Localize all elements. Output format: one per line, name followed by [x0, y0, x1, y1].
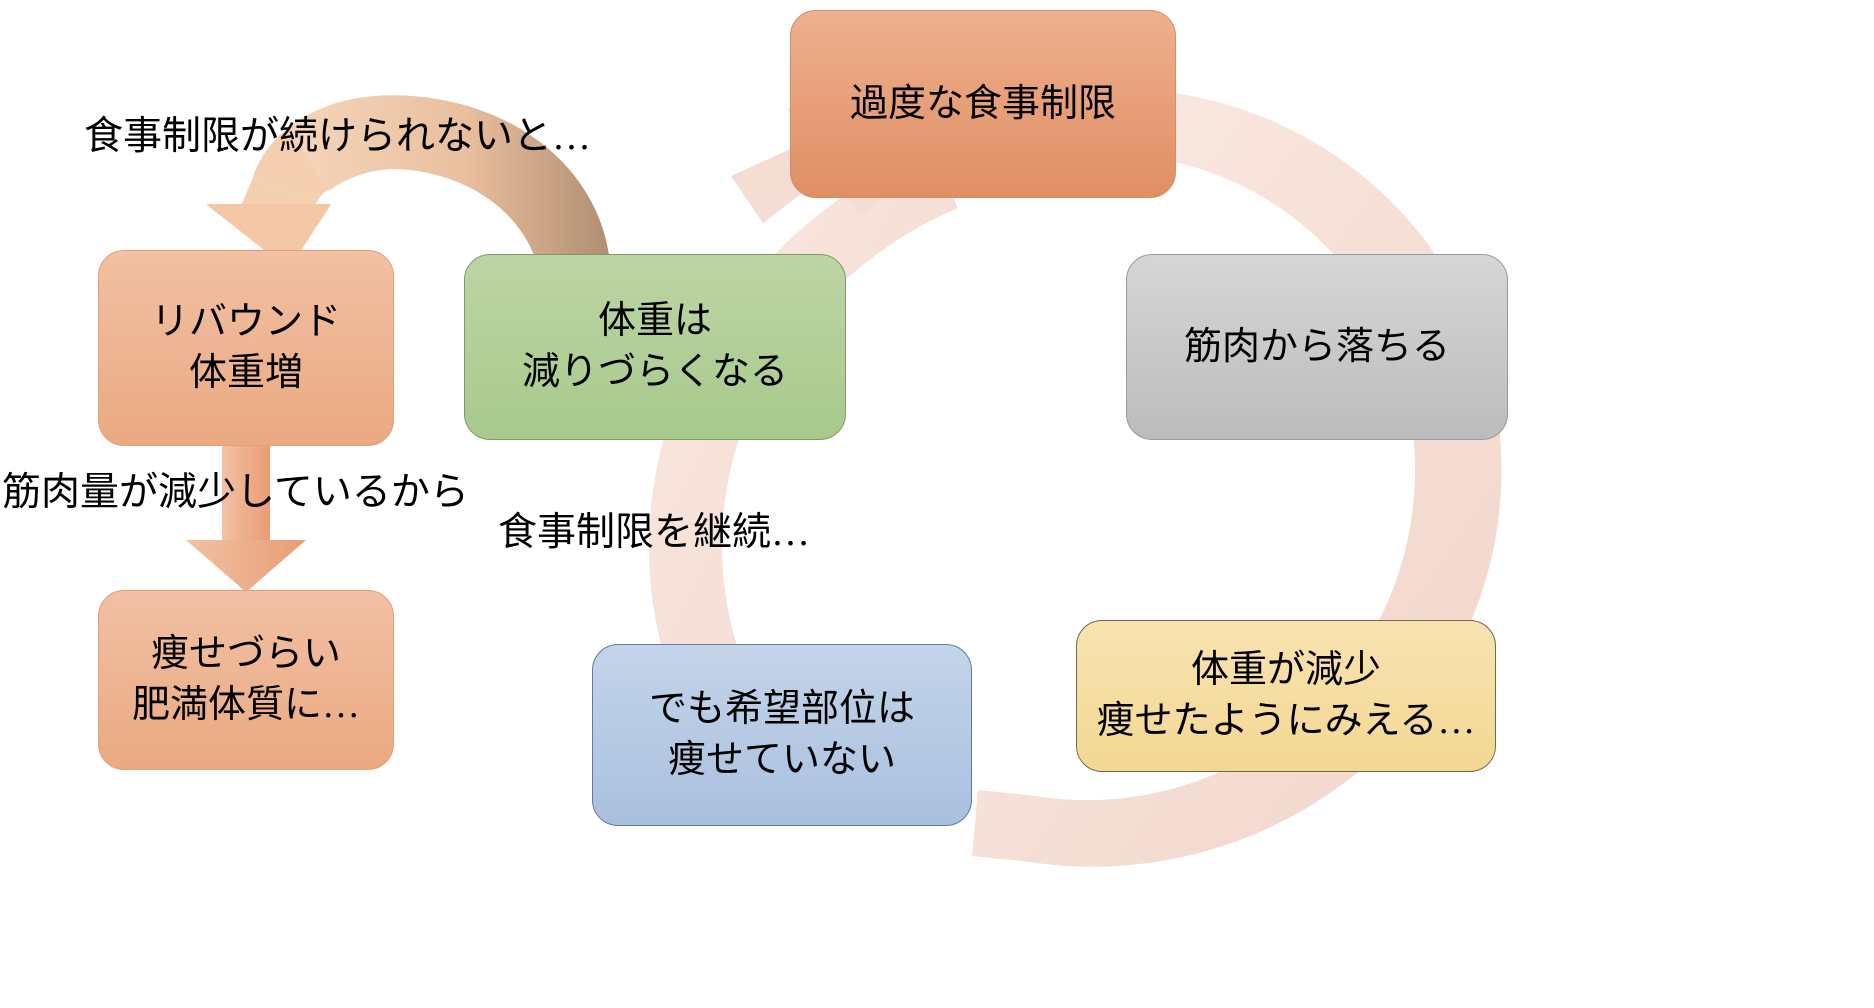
- diagram-canvas: 過度な食事制限 筋肉から落ちる 体重が減少 痩せたようにみえる… でも希望部位は…: [0, 0, 1874, 1008]
- node-weight-decreased[interactable]: 体重が減少 痩せたようにみえる…: [1076, 620, 1496, 772]
- node-muscle-loss-first[interactable]: 筋肉から落ちる: [1126, 254, 1508, 440]
- node-excessive-diet-restriction[interactable]: 過度な食事制限: [790, 10, 1176, 198]
- caption-muscle-mass-decreased: 筋肉量が減少しているから: [2, 472, 469, 515]
- node-weight-hard-to-lose[interactable]: 体重は 減りづらくなる: [464, 254, 846, 440]
- rebound-to-obesity-arrow: [186, 446, 306, 592]
- caption-continue-restriction: 食事制限を継続…: [498, 512, 810, 555]
- node-target-area-not-slimmed[interactable]: でも希望部位は 痩せていない: [592, 644, 972, 826]
- caption-cannot-continue-restriction: 食事制限が続けられないと…: [84, 116, 591, 159]
- node-rebound-weight-gain[interactable]: リバウンド 体重増: [98, 250, 394, 446]
- node-obese-constitution[interactable]: 痩せづらい 肥満体質に…: [98, 590, 394, 770]
